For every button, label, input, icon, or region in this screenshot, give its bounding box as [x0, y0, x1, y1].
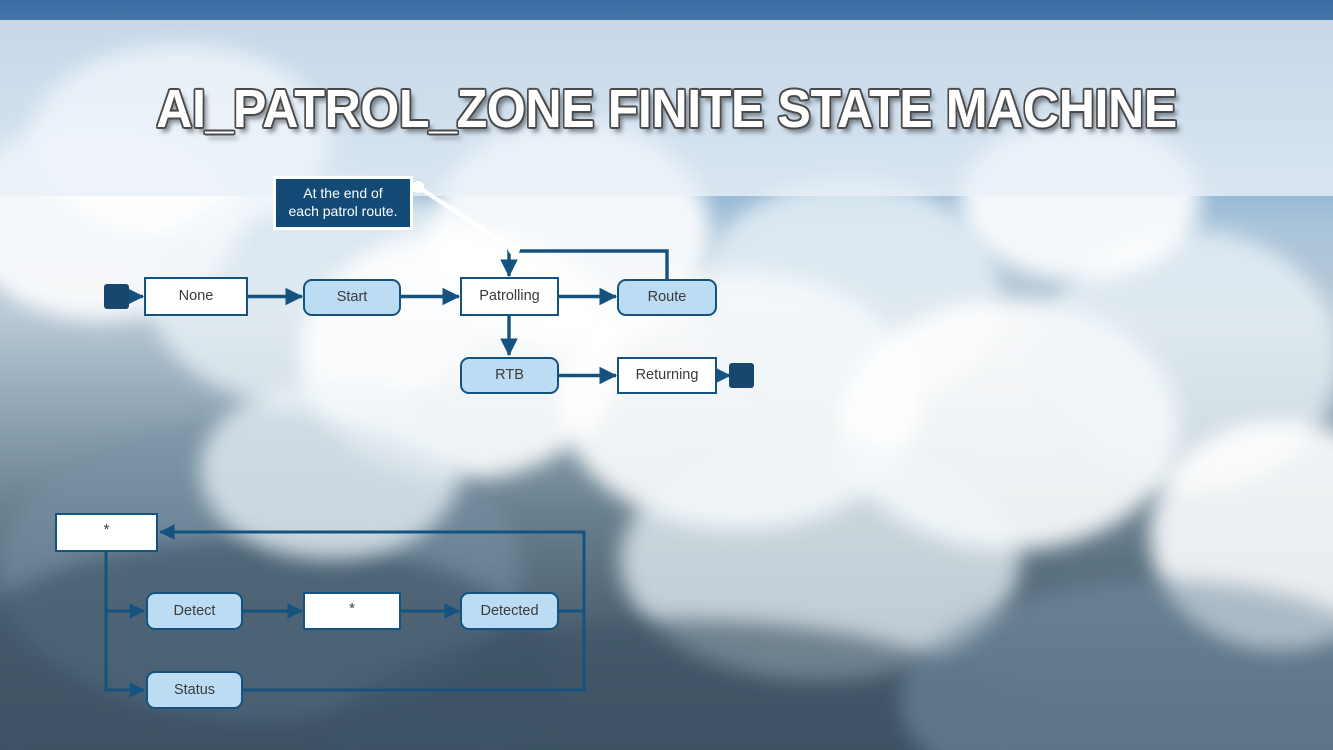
end-node-marker — [729, 363, 754, 388]
state-node-none[interactable]: None — [144, 277, 248, 316]
state-node-label: * — [104, 522, 110, 537]
slide-canvas: AI_PATROL_ZONE FINITE STATE MACHINE — [0, 0, 1333, 750]
state-node-label: Status — [174, 683, 215, 698]
callout-leader-dot-end — [508, 243, 520, 255]
state-node-label: * — [349, 601, 355, 616]
state-node-patrolling[interactable]: Patrolling — [460, 277, 559, 316]
state-node-detect[interactable]: Detect — [146, 592, 243, 630]
state-node-rtb[interactable]: RTB — [460, 357, 559, 394]
state-node-detected[interactable]: Detected — [460, 592, 559, 630]
edge-anystate-status — [106, 552, 144, 690]
callout-line-1: At the end of — [303, 185, 382, 201]
state-node-label: Route — [648, 290, 687, 305]
edge-route-patrolling — [509, 251, 667, 279]
state-node-label: RTB — [495, 368, 524, 383]
callout-leader-dot-start — [412, 181, 424, 193]
callout-note[interactable]: At the end of each patrol route. — [273, 176, 413, 230]
state-node-label: Patrolling — [479, 289, 539, 304]
state-node-start[interactable]: Start — [303, 279, 401, 316]
state-node-label: Start — [337, 290, 368, 305]
state-node-label: None — [179, 289, 214, 304]
start-node-marker — [104, 284, 129, 309]
state-node-any-target[interactable]: * — [303, 592, 401, 630]
callout-leader-line — [418, 187, 514, 249]
state-node-label: Returning — [636, 368, 699, 383]
state-node-status[interactable]: Status — [146, 671, 243, 709]
state-node-label: Detect — [174, 604, 216, 619]
state-node-label: Detected — [480, 604, 538, 619]
callout-line-2: each patrol route. — [289, 203, 398, 219]
edge-anystate-detect — [106, 552, 144, 611]
callout-text: At the end of each patrol route. — [289, 185, 398, 221]
state-node-any-state[interactable]: * — [55, 513, 158, 552]
state-node-route[interactable]: Route — [617, 279, 717, 316]
state-node-returning[interactable]: Returning — [617, 357, 717, 394]
